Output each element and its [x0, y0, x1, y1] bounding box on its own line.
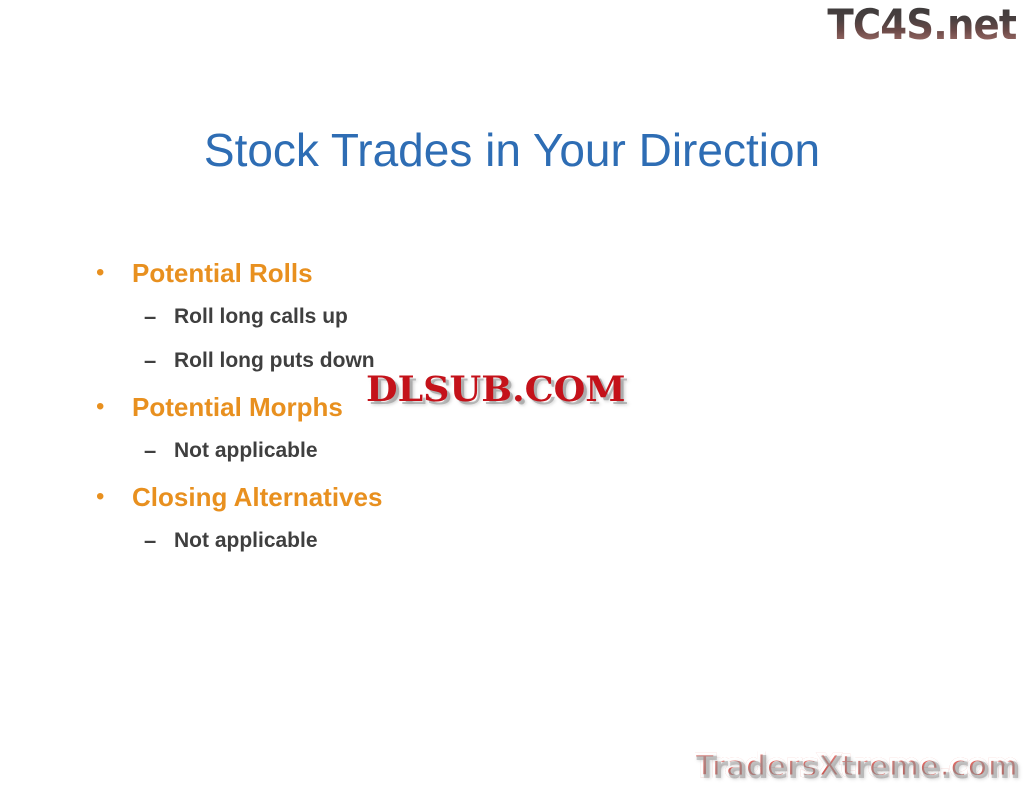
list-item-label: Potential Morphs	[132, 390, 343, 424]
bullet-dot-icon: •	[96, 256, 132, 290]
bullet-list: • Potential Rolls – Roll long calls up –…	[96, 256, 796, 570]
list-item: • Potential Rolls	[96, 256, 796, 302]
bullet-dash-icon: –	[144, 436, 174, 466]
tc4s-logo: TC4S.net	[827, 2, 1016, 48]
dlsub-watermark: DLSUB.COM	[366, 371, 626, 409]
tradersxtreme-logo-text: TradersXtreme.com	[695, 749, 1018, 784]
bullet-dash-icon: –	[144, 526, 174, 556]
tradersxtreme-logo: TradersXtreme.com	[695, 749, 1018, 785]
presentation-slide: TC4S.net Stock Trades in Your Direction …	[0, 0, 1024, 791]
bullet-dash-icon: –	[144, 346, 174, 376]
list-item-label: Closing Alternatives	[132, 480, 382, 514]
list-item: – Not applicable	[96, 436, 796, 480]
bullet-dot-icon: •	[96, 480, 132, 514]
list-item: – Roll long calls up	[96, 302, 796, 346]
list-item-label: Not applicable	[174, 526, 318, 556]
list-item-label: Roll long puts down	[174, 346, 375, 376]
bullet-dash-icon: –	[144, 302, 174, 332]
page-title: Stock Trades in Your Direction	[0, 122, 1024, 178]
list-item-label: Roll long calls up	[174, 302, 348, 332]
bullet-dot-icon: •	[96, 390, 132, 424]
list-item: – Not applicable	[96, 526, 796, 570]
list-item-label: Not applicable	[174, 436, 318, 466]
list-item-label: Potential Rolls	[132, 256, 313, 290]
list-item: • Closing Alternatives	[96, 480, 796, 526]
